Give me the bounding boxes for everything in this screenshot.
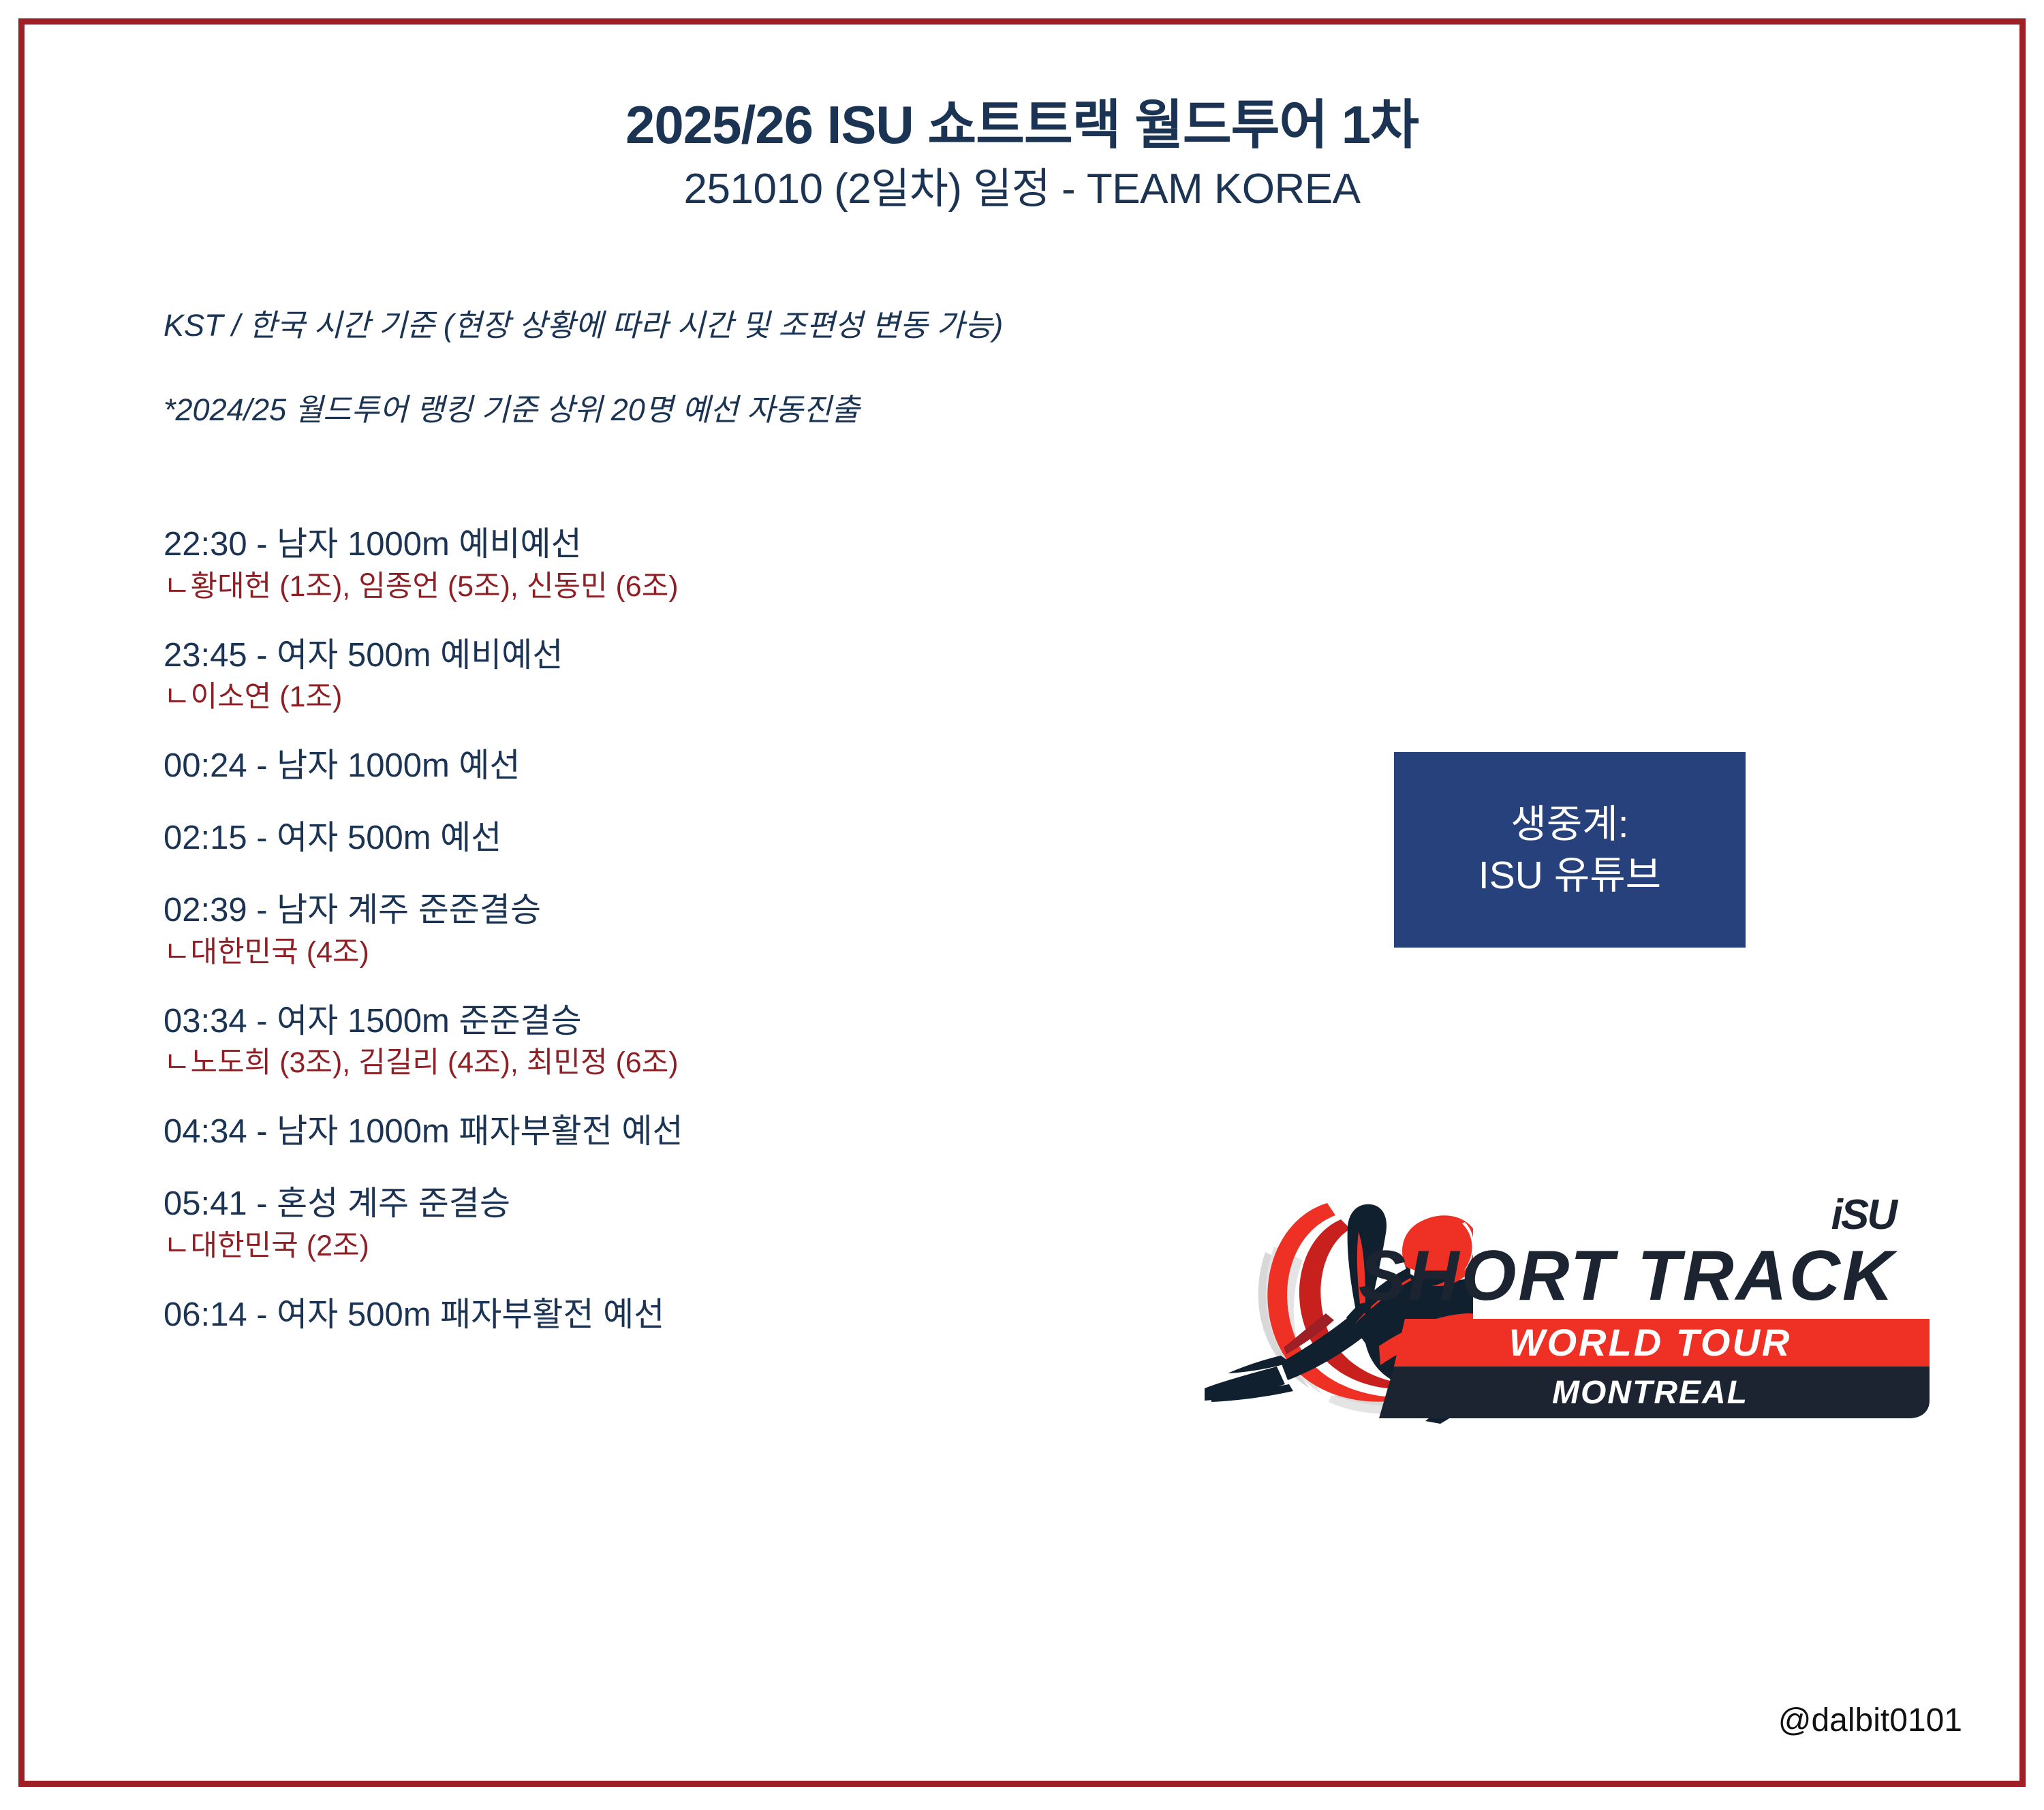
poster-canvas: 2025/26 ISU 쇼트트랙 월드투어 1차 251010 (2일차) 일정…	[0, 0, 2044, 1810]
schedule-item: 23:45 - 여자 500m 예비예선 ㄴ이소연 (1조)	[164, 634, 1322, 717]
schedule-time-event: 23:45 - 여자 500m 예비예선	[164, 634, 1322, 678]
isu-brand-text: iSU	[1831, 1191, 1900, 1238]
schedule-athletes: ㄴ노도희 (3조), 김길리 (4조), 최민정 (6조)	[164, 1044, 1322, 1082]
schedule-item: 22:30 - 남자 1000m 예비예선 ㄴ황대헌 (1조), 임종언 (5조…	[164, 523, 1322, 606]
note-ranking: *2024/25 월드투어 랭킹 기준 상위 20명 예선 자동진출	[164, 391, 1458, 429]
schedule-item: 02:15 - 여자 500m 예선	[164, 817, 1322, 860]
page-title: 2025/26 ISU 쇼트트랙 월드투어 1차	[0, 95, 2044, 155]
world-tour-text: WORLD TOUR	[1509, 1321, 1792, 1364]
broadcast-label: 생중계:	[1511, 799, 1628, 849]
schedule-time-event: 02:39 - 남자 계주 준준결승	[164, 889, 1322, 933]
schedule-time-event: 22:30 - 남자 1000m 예비예선	[164, 523, 1322, 567]
note-timezone: KST / 한국 시간 기준 (현장 상황에 따라 시간 및 조편성 변동 가능…	[164, 307, 1458, 345]
short-track-text: SHORT TRACK	[1359, 1236, 1898, 1315]
schedule-time-event: 02:15 - 여자 500m 예선	[164, 817, 1322, 860]
schedule-item: 00:24 - 남자 1000m 예선	[164, 745, 1322, 788]
schedule-athletes: ㄴ대한민국 (2조)	[164, 1228, 1322, 1265]
page-subtitle: 251010 (2일차) 일정 - TEAM KOREA	[0, 164, 2044, 215]
schedule-time-event: 03:34 - 여자 1500m 준준결승	[164, 1000, 1322, 1044]
schedule-athletes: ㄴ이소연 (1조)	[164, 678, 1322, 716]
schedule-time-event: 00:24 - 남자 1000m 예선	[164, 745, 1322, 788]
montreal-text: MONTREAL	[1552, 1375, 1748, 1411]
notes-block: KST / 한국 시간 기준 (현장 상황에 따라 시간 및 조편성 변동 가능…	[164, 307, 1458, 430]
schedule-time-event: 04:34 - 남자 1000m 패자부활전 예선	[164, 1110, 1322, 1154]
author-handle: @dalbit0101	[1778, 1702, 1962, 1739]
schedule-time-event: 05:41 - 혼성 계주 준결승	[164, 1183, 1322, 1226]
schedule-item: 05:41 - 혼성 계주 준결승 ㄴ대한민국 (2조)	[164, 1183, 1322, 1265]
broadcast-channel: ISU 유튜브	[1478, 850, 1661, 901]
isu-short-track-world-tour-logo: iSU SHORT TRACK WORLD TOUR MONTREAL	[1201, 1184, 1936, 1429]
broadcast-info-box: 생중계: ISU 유튜브	[1394, 752, 1746, 948]
schedule-item: 06:14 - 여자 500m 패자부활전 예선	[164, 1294, 1322, 1337]
schedule-item: 03:34 - 여자 1500m 준준결승 ㄴ노도희 (3조), 김길리 (4조…	[164, 1000, 1322, 1082]
schedule-item: 02:39 - 남자 계주 준준결승 ㄴ대한민국 (4조)	[164, 889, 1322, 971]
schedule-athletes: ㄴ황대헌 (1조), 임종언 (5조), 신동민 (6조)	[164, 568, 1322, 606]
schedule-item: 04:34 - 남자 1000m 패자부활전 예선	[164, 1110, 1322, 1154]
schedule-athletes: ㄴ대한민국 (4조)	[164, 934, 1322, 971]
schedule-time-event: 06:14 - 여자 500m 패자부활전 예선	[164, 1294, 1322, 1337]
schedule-list: 22:30 - 남자 1000m 예비예선 ㄴ황대헌 (1조), 임종언 (5조…	[164, 523, 1322, 1337]
poster-header: 2025/26 ISU 쇼트트랙 월드투어 1차 251010 (2일차) 일정…	[0, 95, 2044, 215]
